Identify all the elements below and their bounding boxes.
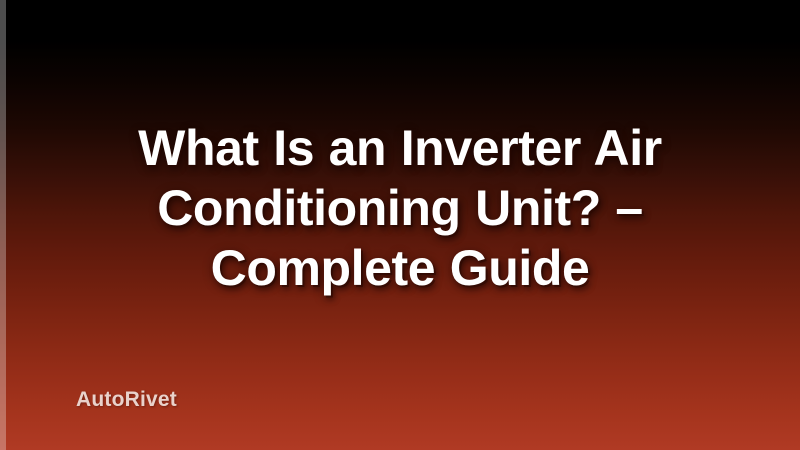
headline-line-1: What Is an Inverter Air bbox=[138, 120, 662, 176]
title-card: What Is an Inverter AirConditioning Unit… bbox=[0, 0, 800, 450]
brand-wordmark: AutoRivet bbox=[76, 388, 177, 412]
headline-line-3: Complete Guide bbox=[211, 240, 590, 296]
page-title: What Is an Inverter AirConditioning Unit… bbox=[56, 118, 744, 298]
headline-block: What Is an Inverter AirConditioning Unit… bbox=[0, 118, 800, 298]
headline-line-2: Conditioning Unit? – bbox=[157, 180, 643, 236]
